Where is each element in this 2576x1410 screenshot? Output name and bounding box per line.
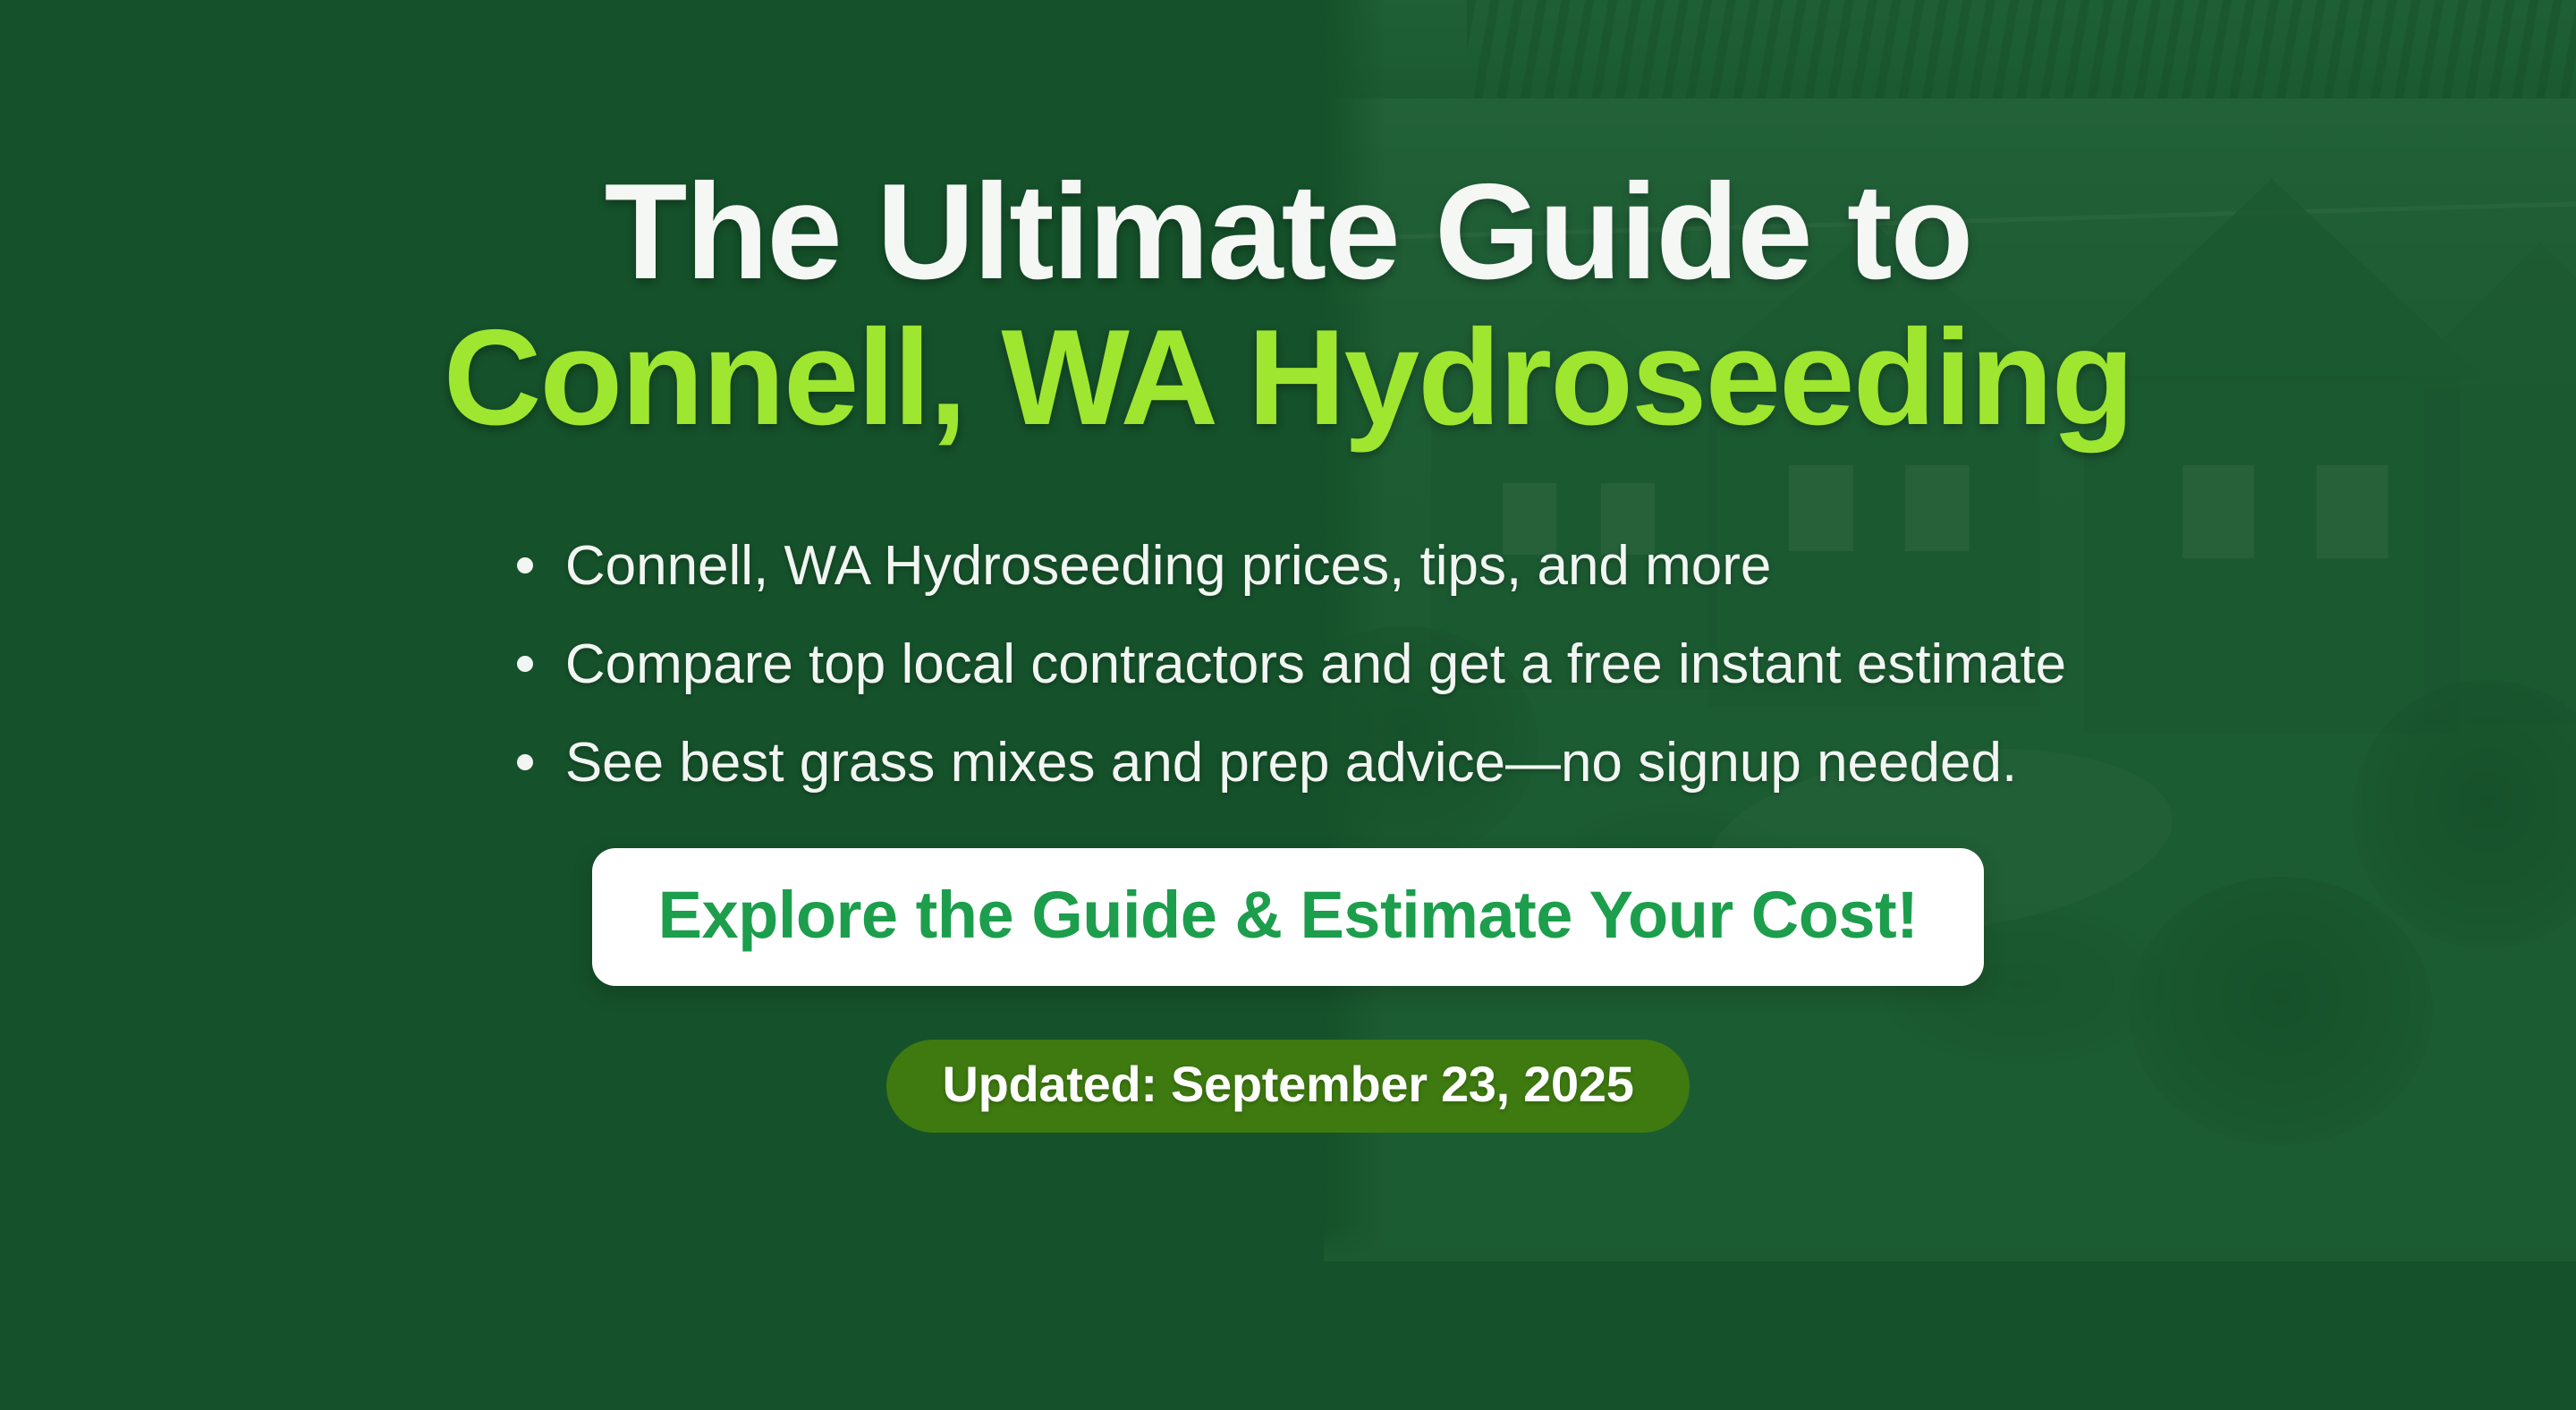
hero-banner: The Ultimate Guide to Connell, WA Hydros… (0, 0, 2576, 1410)
badge-container: Updated: September 23, 2025 (0, 1040, 2576, 1133)
list-item: Compare top local contractors and get a … (510, 631, 2066, 699)
photo-bottom-fade (1324, 1226, 2576, 1261)
list-item: Connell, WA Hydroseeding prices, tips, a… (510, 532, 2066, 600)
bullet-text: Compare top local contractors and get a … (565, 633, 2066, 695)
banner-content: The Ultimate Guide to Connell, WA Hydros… (0, 0, 2576, 1133)
page-title: The Ultimate Guide to Connell, WA Hydros… (0, 159, 2576, 450)
feature-bullet-list: Connell, WA Hydroseeding prices, tips, a… (510, 532, 2066, 796)
bullet-text: Connell, WA Hydroseeding prices, tips, a… (565, 535, 1772, 597)
bullet-dot-icon (517, 557, 533, 573)
bullet-text: See best grass mixes and prep advice—no … (565, 732, 2017, 794)
list-item: See best grass mixes and prep advice—no … (510, 729, 2066, 797)
headline-line-2: Connell, WA Hydroseeding (0, 305, 2576, 451)
explore-guide-button[interactable]: Explore the Guide & Estimate Your Cost! (592, 848, 1985, 986)
cta-container: Explore the Guide & Estimate Your Cost! (0, 848, 2576, 986)
bullet-dot-icon (517, 754, 533, 770)
updated-status-badge: Updated: September 23, 2025 (886, 1040, 1689, 1133)
headline-line-1: The Ultimate Guide to (605, 156, 1972, 308)
bullet-dot-icon (517, 656, 533, 672)
